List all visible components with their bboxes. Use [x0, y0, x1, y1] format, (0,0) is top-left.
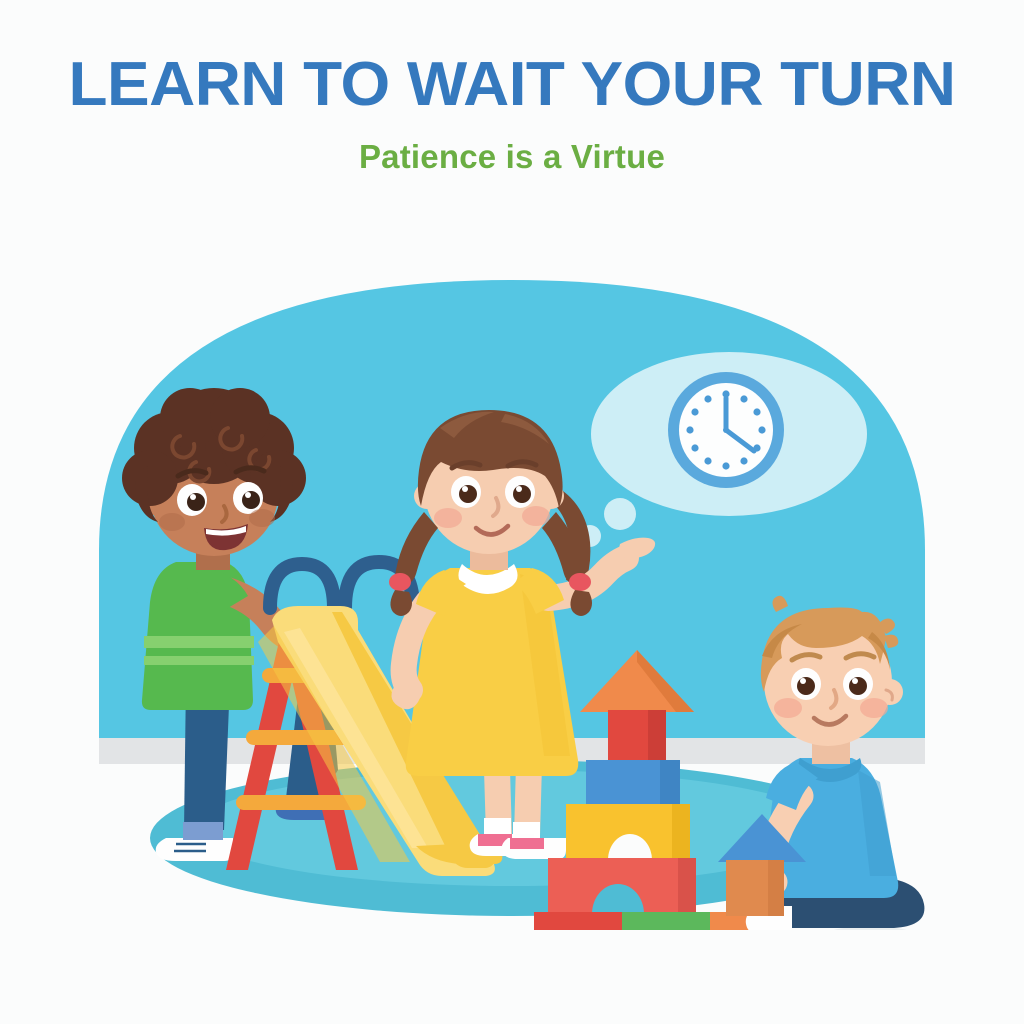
illustration-scene: [0, 250, 1024, 930]
title-block: LEARN TO WAIT YOUR TURN Patience is a Vi…: [0, 54, 1024, 176]
page-title: LEARN TO WAIT YOUR TURN: [0, 54, 1024, 116]
wall-clock: [668, 372, 784, 488]
poster-root: LEARN TO WAIT YOUR TURN Patience is a Vi…: [0, 0, 1024, 1024]
page-subtitle: Patience is a Virtue: [0, 138, 1024, 176]
